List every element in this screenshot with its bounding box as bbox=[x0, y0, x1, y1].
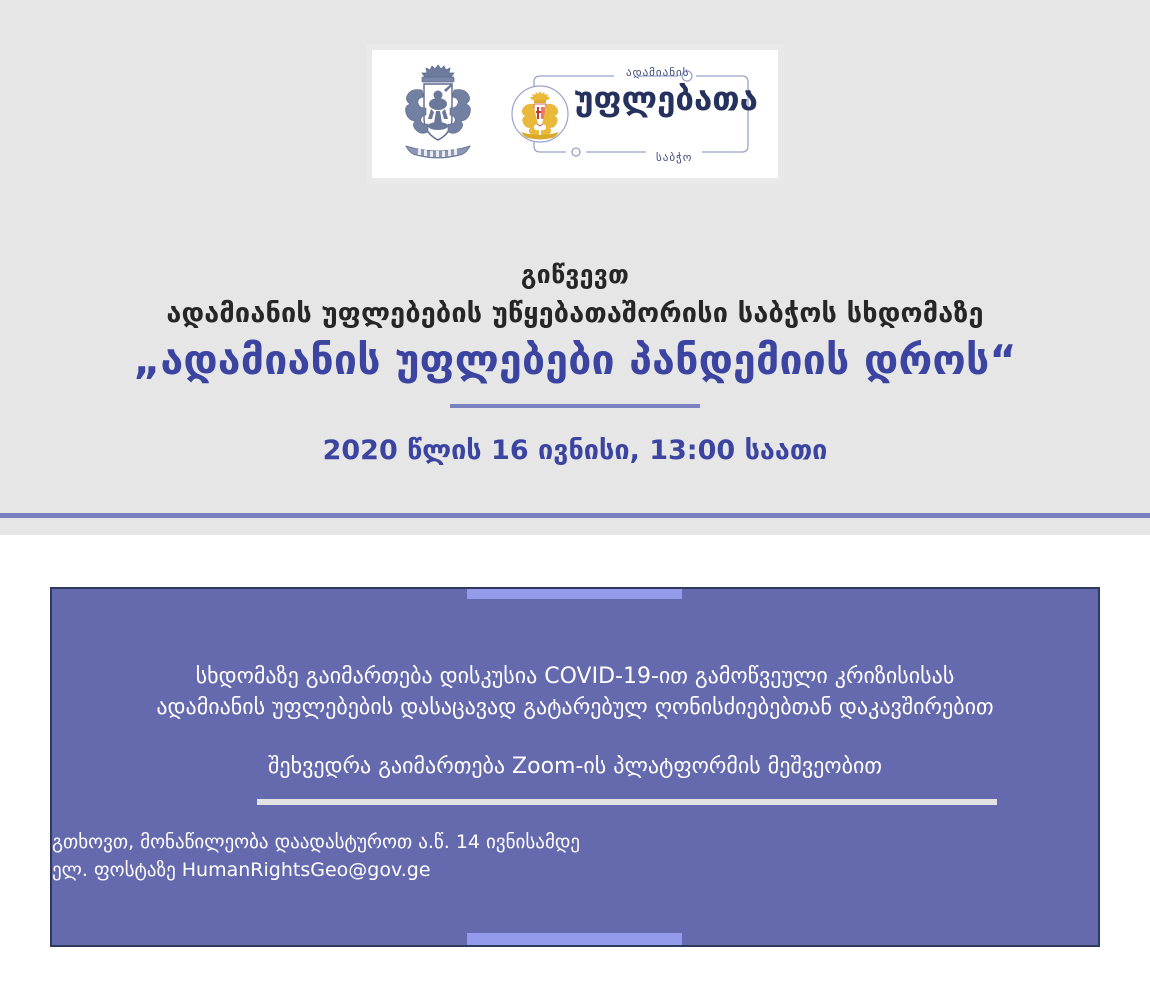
event-date-time: 2020 წლის 16 ივნისი, 13:00 საათი bbox=[0, 435, 1150, 466]
georgia-small-coat-of-arms-icon bbox=[510, 84, 570, 144]
office-wordmark: ადამიანის უფლებათა საბჭო bbox=[506, 62, 758, 166]
panel-divider bbox=[257, 799, 997, 805]
lead-line-1: სხდომაზე გაიმართება დისკუსია COVID-19-ით… bbox=[82, 661, 1068, 692]
rsvp-deadline-line: გთხოვთ, მონაწილეობა დაადასტუროთ ა.წ. 14 … bbox=[52, 829, 1098, 857]
wordmark-top-text: ადამიანის bbox=[626, 66, 689, 79]
zoom-platform-note: შეხვედრა გაიმართება Zoom-ის პლატფორმის მ… bbox=[82, 751, 1068, 782]
details-panel: სხდომაზე გაიმართება დისკუსია COVID-19-ით… bbox=[50, 587, 1100, 947]
subject-line: ადამიანის უფლებების უწყებათაშორისი საბჭო… bbox=[0, 298, 1150, 329]
header-band: ადამიანის უფლებათა საბჭო გიწვევთ ადამიან… bbox=[0, 0, 1150, 535]
wordmark-main-text: უფლებათა bbox=[574, 82, 754, 115]
details-panel-body: სხდომაზე გაიმართება დისკუსია COVID-19-ით… bbox=[52, 589, 1098, 945]
page-title: „ადამიანის უფლებები პანდემიის დროს“ bbox=[0, 336, 1150, 384]
panel-footer: გთხოვთ, მონაწილეობა დაადასტუროთ ა.წ. 14 … bbox=[52, 829, 1098, 884]
logo-plate-frame: ადამიანის უფლებათა საბჭო bbox=[366, 44, 784, 184]
invite-word: გიწვევთ bbox=[0, 260, 1150, 289]
wordmark-bottom-text: საბჭო bbox=[656, 151, 692, 164]
invitation-page: ადამიანის უფლებათა საბჭო გიწვევთ ადამიან… bbox=[0, 0, 1150, 1000]
title-divider bbox=[450, 404, 700, 408]
accent-bar-bottom bbox=[467, 933, 682, 945]
georgia-coat-of-arms-icon bbox=[392, 60, 484, 168]
rsvp-email-line: ელ. ფოსტაზე HumanRightsGeo@gov.ge bbox=[52, 857, 1098, 885]
header-bottom-divider bbox=[0, 513, 1150, 518]
logo-plate: ადამიანის უფლებათა საბჭო bbox=[372, 50, 778, 178]
lead-line-2: ადამიანის უფლებების დასაცავად გატარებულ … bbox=[82, 692, 1068, 723]
